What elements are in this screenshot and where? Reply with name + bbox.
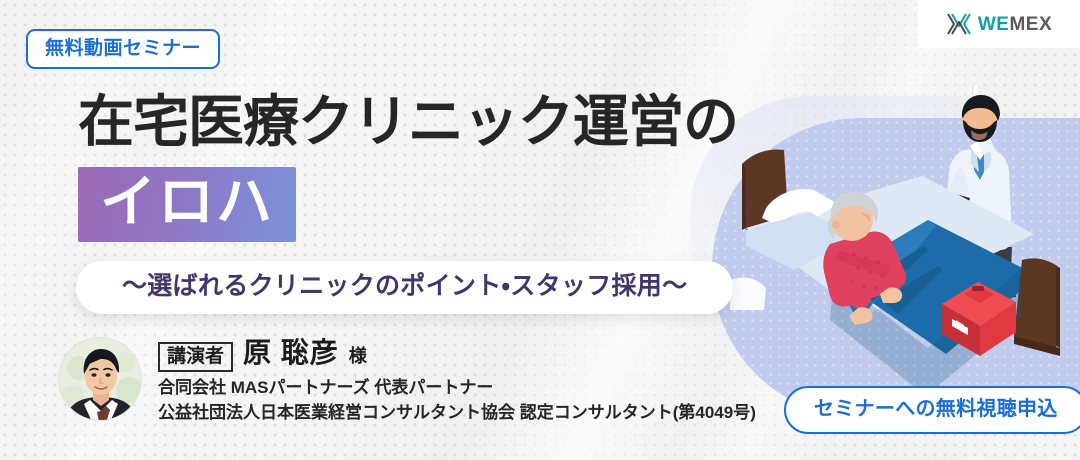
subtitle-pill: 〜選ばれるクリニックのポイント・スタッフ採用〜 [76, 261, 733, 314]
speaker-name-row: 講演者 原 聡彦 様 [158, 339, 756, 372]
bedside-lamp [730, 278, 766, 311]
speaker-honorific: 様 [349, 347, 367, 365]
page-title: 在宅医療クリニック運営の [78, 92, 738, 151]
speaker-credential-line-1: 合同会社 MASパートナーズ 代表パートナー [158, 376, 756, 401]
wemex-logo-text: WEMEX [978, 15, 1052, 34]
page-title-accent: イロハ [78, 167, 296, 242]
wemex-logo-text-mex: MEX [1009, 14, 1052, 35]
speaker-block: 講演者 原 聡彦 様 合同会社 MASパートナーズ 代表パートナー 公益社団法人… [58, 337, 756, 425]
speaker-name: 原 聡彦 [243, 339, 339, 367]
seminar-banner: WEMEX 無料動画セミナー 在宅医療クリニック運営の イロハ 〜選ばれるクリニ… [0, 0, 1080, 460]
home-medical-care-illustration [730, 62, 1080, 402]
wemex-logo: WEMEX [918, 0, 1080, 48]
speaker-portrait [58, 337, 142, 421]
wemex-logo-text-we: WE [978, 14, 1010, 35]
speaker-credential-line-2: 公益社団法人日本医業経営コンサルタント協会 認定コンサルタント(第4049号) [158, 401, 756, 426]
seminar-signup-button[interactable]: セミナーへの無料視聴申込 [784, 386, 1080, 434]
speaker-details: 講演者 原 聡彦 様 合同会社 MASパートナーズ 代表パートナー 公益社団法人… [158, 337, 756, 425]
free-video-seminar-badge: 無料動画セミナー [26, 29, 220, 69]
wemex-logo-mark [946, 12, 972, 36]
speaker-role-label: 講演者 [158, 342, 233, 372]
